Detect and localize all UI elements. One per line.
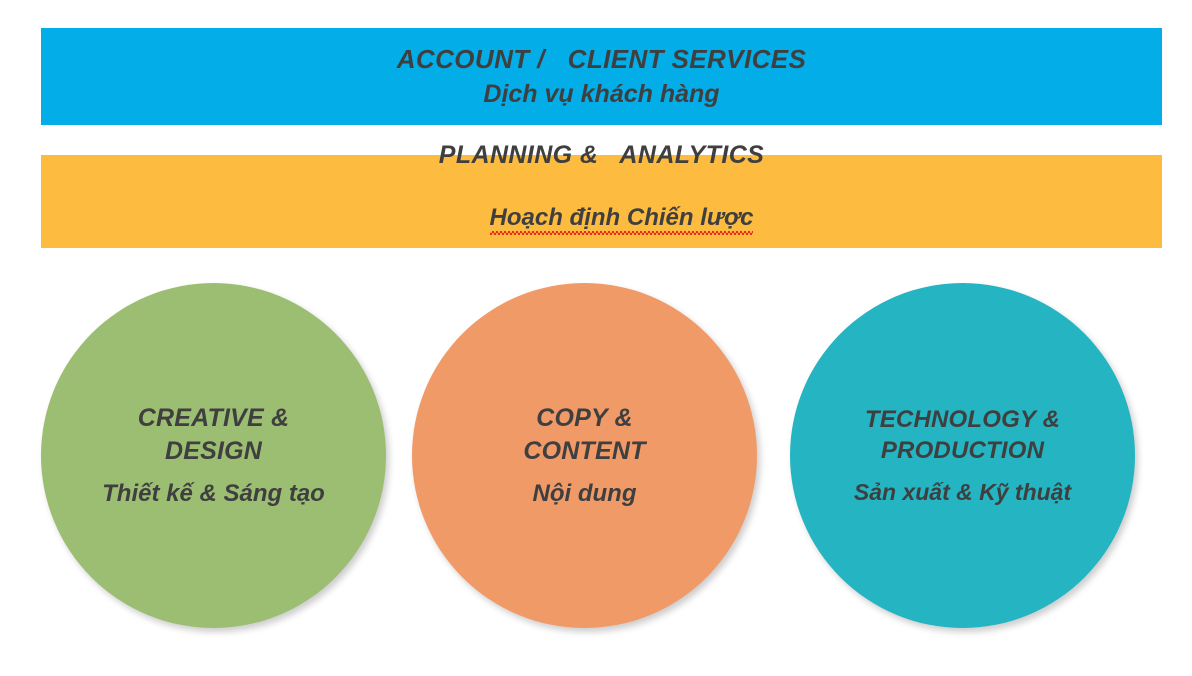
circle-title-en-line1: COPY & [536, 404, 633, 432]
circle-creative-design[interactable]: CREATIVE & DESIGN Thiết kế & Sáng tạo [41, 283, 386, 628]
circle-title-vi: Sản xuất & Kỹ thuật [854, 477, 1071, 507]
circle-title-en: TECHNOLOGY & PRODUCTION [865, 404, 1060, 467]
circle-title-en-line2: CONTENT [523, 437, 645, 465]
circle-title-en-line1: TECHNOLOGY & [865, 406, 1060, 433]
circle-title-en-line2: DESIGN [165, 437, 262, 465]
circle-title-vi: Nội dung [533, 478, 637, 510]
banner-title-vi-wrapper: Hoạch định Chiến lược [450, 175, 754, 262]
banner-planning-analytics[interactable]: PLANNING & ANALYTICS Hoạch định Chiến lư… [41, 155, 1162, 248]
circle-title-en-line2: PRODUCTION [881, 437, 1044, 464]
circle-title-en: CREATIVE & DESIGN [138, 402, 290, 468]
banner-title-en: PLANNING & ANALYTICS [439, 141, 764, 171]
circle-technology-production[interactable]: TECHNOLOGY & PRODUCTION Sản xuất & Kỹ th… [790, 283, 1135, 628]
banner-title-en: ACCOUNT / CLIENT SERVICES [397, 44, 807, 75]
circle-title-en: COPY & CONTENT [523, 402, 645, 468]
agency-structure-diagram: ACCOUNT / CLIENT SERVICES Dịch vụ khách … [0, 0, 1192, 676]
circle-copy-content[interactable]: COPY & CONTENT Nội dung [412, 283, 757, 628]
banner-account-client-services[interactable]: ACCOUNT / CLIENT SERVICES Dịch vụ khách … [41, 28, 1162, 125]
circle-title-en-line1: CREATIVE & [138, 404, 290, 432]
circle-title-vi: Thiết kế & Sáng tạo [102, 478, 325, 510]
banner-title-vi: Dịch vụ khách hàng [483, 80, 719, 110]
banner-title-vi: Hoạch định Chiến lược [490, 204, 754, 234]
